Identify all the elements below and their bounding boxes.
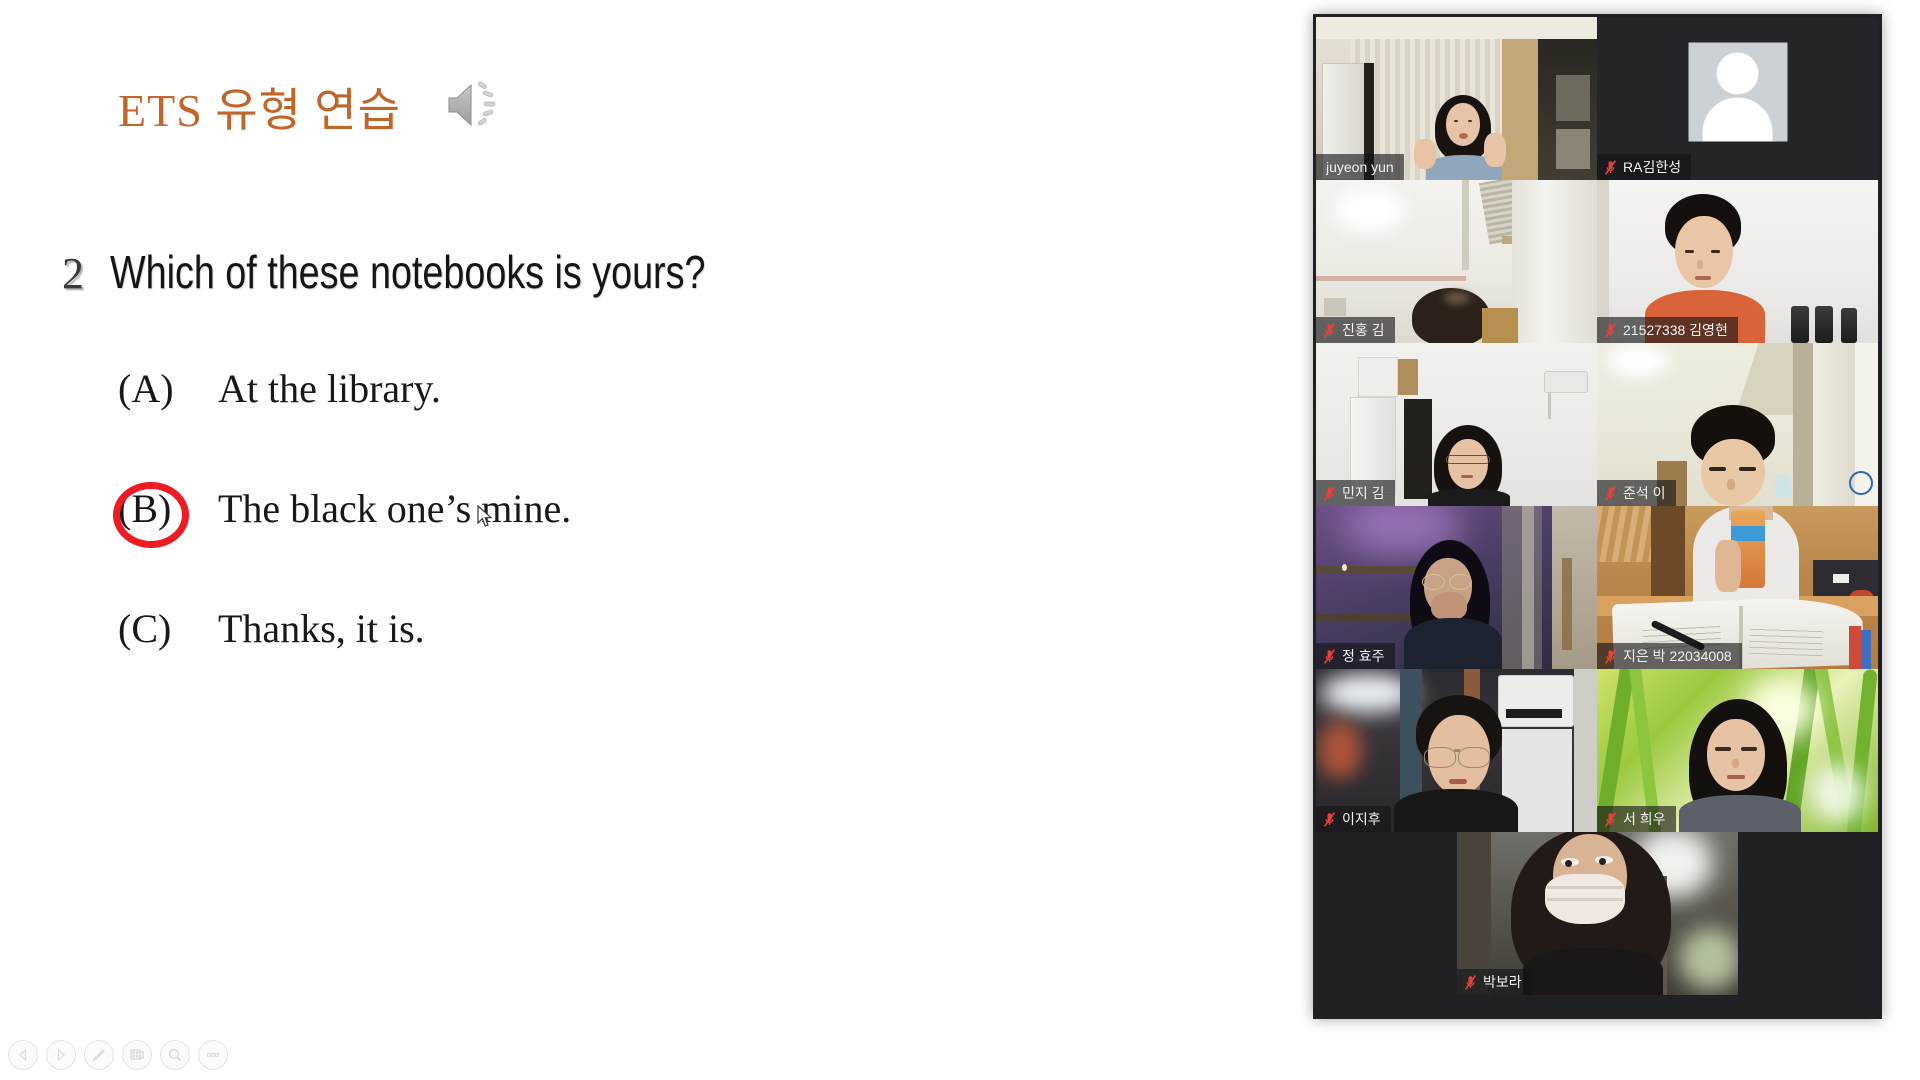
choice-b-text: The black one’s mine. xyxy=(218,485,571,532)
participant-name: 정 효주 xyxy=(1342,646,1385,666)
participant-name: 준석 이 xyxy=(1623,483,1666,503)
speaker-sound-icon[interactable] xyxy=(443,78,503,132)
participant-tile[interactable]: 21527338 김영현 xyxy=(1597,180,1878,343)
participant-name: 진홍 김 xyxy=(1342,320,1385,340)
zoom-video-grid: juyeon yun RA김한성 xyxy=(1316,17,1879,1016)
answer-choice-b[interactable]: (B) The black one’s mine. xyxy=(118,485,571,532)
participant-tile[interactable]: 정 효주 xyxy=(1316,506,1597,669)
participant-name: juyeon yun xyxy=(1326,159,1394,175)
pen-annotate-button[interactable] xyxy=(84,1040,114,1070)
question-number: 2 xyxy=(62,252,84,296)
microphone-muted-icon xyxy=(1603,648,1618,665)
microphone-muted-icon xyxy=(1322,811,1337,828)
microphone-muted-icon xyxy=(1322,322,1337,339)
microphone-muted-icon xyxy=(1322,648,1337,665)
participant-tile[interactable]: juyeon yun xyxy=(1316,17,1597,180)
microphone-muted-icon xyxy=(1603,322,1618,339)
participant-tile[interactable]: 이지후 xyxy=(1316,669,1597,832)
participant-tile[interactable]: 지은 박 22034008 xyxy=(1597,506,1878,669)
slide-toolbar[interactable] xyxy=(8,1040,228,1070)
participant-name: 박보라 xyxy=(1483,972,1522,992)
zoom-participant-panel[interactable]: juyeon yun RA김한성 xyxy=(1313,14,1882,1019)
previous-slide-button[interactable] xyxy=(8,1040,38,1070)
choice-c-tag: (C) xyxy=(118,605,212,652)
choice-c-text: Thanks, it is. xyxy=(218,605,425,652)
participant-nameplate: 박보라 xyxy=(1457,969,1532,995)
question-row: 2 Which of these notebooks is yours? xyxy=(62,245,836,299)
choice-a-tag: (A) xyxy=(118,365,212,412)
participant-tile[interactable]: 박보라 xyxy=(1457,832,1738,995)
participant-tile[interactable]: RA김한성 xyxy=(1597,17,1878,180)
participant-nameplate: 민지 김 xyxy=(1316,480,1395,506)
mouse-cursor xyxy=(477,505,493,529)
participant-nameplate: 정 효주 xyxy=(1316,643,1395,669)
question-text: Which of these notebooks is yours? xyxy=(110,245,705,299)
participant-nameplate: juyeon yun xyxy=(1316,154,1404,180)
next-slide-button[interactable] xyxy=(46,1040,76,1070)
participant-nameplate: 21527338 김영현 xyxy=(1597,317,1738,343)
slide-thumbnails-button[interactable] xyxy=(122,1040,152,1070)
microphone-muted-icon xyxy=(1603,159,1618,176)
participant-nameplate: 이지후 xyxy=(1316,806,1391,832)
participant-tile[interactable]: 진홍 김 xyxy=(1316,180,1597,343)
microphone-muted-icon xyxy=(1603,811,1618,828)
participant-nameplate: 서 희우 xyxy=(1597,806,1676,832)
participant-nameplate: 준석 이 xyxy=(1597,480,1676,506)
participant-tile[interactable]: 준석 이 xyxy=(1597,343,1878,506)
presentation-slide: ETS 유형 연습 2 Which of these notebooks is … xyxy=(0,0,1313,1080)
participant-name: 서 희우 xyxy=(1623,809,1666,829)
participant-tile[interactable]: 민지 김 xyxy=(1316,343,1597,506)
participant-nameplate: 진홍 김 xyxy=(1316,317,1395,343)
participant-name: 이지후 xyxy=(1342,809,1381,829)
choice-a-text: At the library. xyxy=(218,365,441,412)
participant-tile[interactable]: 서 희우 xyxy=(1597,669,1878,832)
answer-choice-c[interactable]: (C) Thanks, it is. xyxy=(118,605,425,652)
microphone-muted-icon xyxy=(1463,974,1478,991)
participant-name: RA김한성 xyxy=(1623,157,1681,177)
participant-name: 21527338 김영현 xyxy=(1623,320,1728,340)
zoom-magnifier-button[interactable] xyxy=(160,1040,190,1070)
more-options-button[interactable] xyxy=(198,1040,228,1070)
participant-nameplate: 지은 박 22034008 xyxy=(1597,643,1742,669)
microphone-muted-icon xyxy=(1322,485,1337,502)
microphone-muted-icon xyxy=(1603,485,1618,502)
avatar xyxy=(1688,42,1787,141)
page-title: ETS 유형 연습 xyxy=(118,74,401,140)
participant-name: 지은 박 22034008 xyxy=(1623,646,1732,666)
answer-choice-a[interactable]: (A) At the library. xyxy=(118,365,441,412)
participant-name: 민지 김 xyxy=(1342,483,1385,503)
participant-nameplate: RA김한성 xyxy=(1597,154,1691,180)
choice-b-tag: (B) xyxy=(118,485,212,532)
